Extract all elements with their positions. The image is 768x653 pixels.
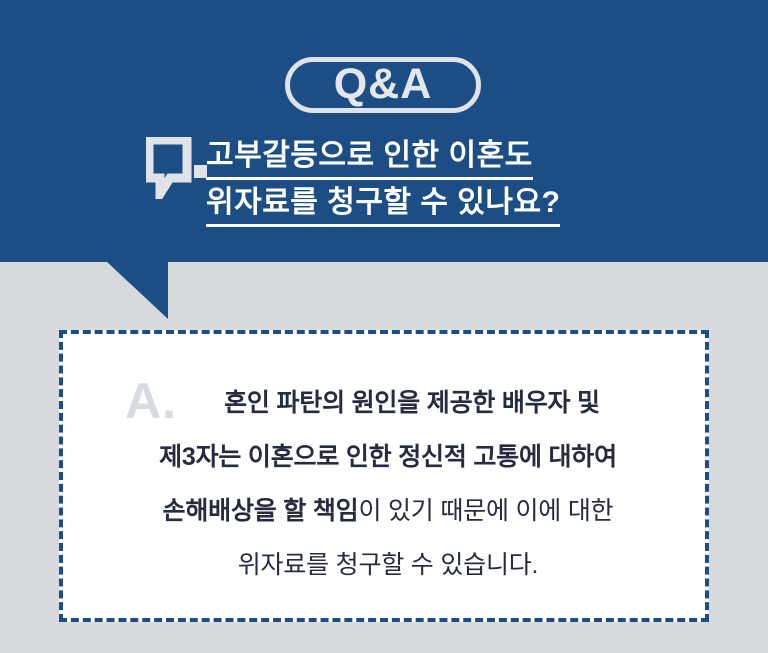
answer-segment: 혼인 파탄의 원인을 제공한 배우자 및 xyxy=(224,389,600,417)
answer-segment: 제3자는 이혼으로 인한 정신적 고통에 대하여 xyxy=(159,443,617,471)
answer-line: 위자료를 청구할 수 있습니다. xyxy=(63,538,713,592)
question-text-block: 고부갈등으로 인한 이혼도 위자료를 청구할 수 있나요? xyxy=(206,136,666,230)
question-line: 고부갈등으로 인한 이혼도 xyxy=(206,136,533,180)
qa-badge-label: Q&A xyxy=(334,63,433,106)
answer-segment: 손해배상을 할 책임 xyxy=(163,497,359,525)
speech-bubble-tail xyxy=(106,261,168,319)
answer-line: 손해배상을 할 책임이 있기 때문에 이에 대한 xyxy=(63,484,713,538)
answer-line: 제3자는 이혼으로 인한 정신적 고통에 대하여 xyxy=(63,430,713,484)
answer-segment: 이 있기 때문에 이에 대한 xyxy=(358,497,613,525)
question-line: 위자료를 청구할 수 있나요? xyxy=(206,183,560,227)
qa-badge: Q&A xyxy=(285,57,481,113)
question-marker-icon xyxy=(146,137,210,199)
answer-text-block: 혼인 파탄의 원인을 제공한 배우자 및 제3자는 이혼으로 인한 정신적 고통… xyxy=(63,376,713,592)
answer-line: 혼인 파탄의 원인을 제공한 배우자 및 xyxy=(63,376,713,430)
answer-segment: 위자료를 청구할 수 있습니다. xyxy=(238,551,539,579)
qa-header-panel: Q&A 고부갈등으로 인한 이혼도 위자료를 청구할 수 있나요? xyxy=(0,0,768,262)
answer-card: A. 혼인 파탄의 원인을 제공한 배우자 및 제3자는 이혼으로 인한 정신적… xyxy=(59,330,709,622)
